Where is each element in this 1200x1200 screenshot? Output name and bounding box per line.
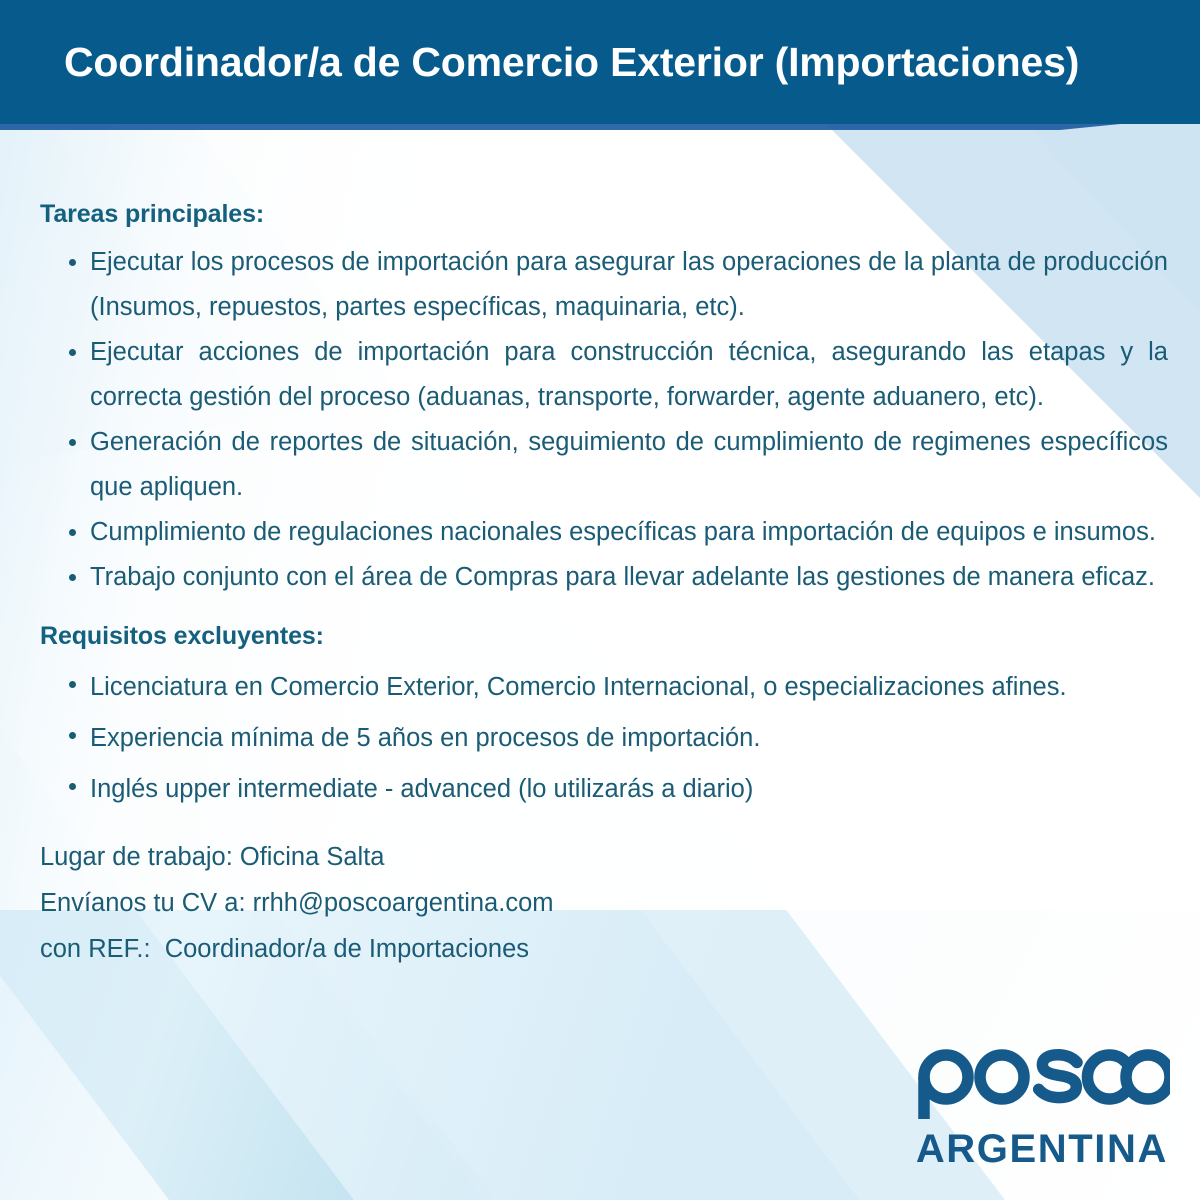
list-item: Trabajo conjunto con el área de Compras … (62, 555, 1168, 600)
section-heading-tareas: Tareas principales: (40, 200, 264, 229)
list-item: Ejecutar los procesos de importación par… (62, 240, 1168, 330)
list-item: Generación de reportes de situación, seg… (62, 420, 1168, 510)
logo-subtitle: ARGENTINA (910, 1127, 1168, 1172)
section-heading-requisitos: Requisitos excluyentes: (40, 622, 324, 651)
list-item: Cumplimiento de regulaciones nacionales … (62, 510, 1168, 555)
list-item: Inglés upper intermediate - advanced (lo… (62, 764, 1168, 815)
list-item: Experiencia mínima de 5 años en procesos… (62, 713, 1168, 764)
content-area: Tareas principales: Ejecutar los proceso… (0, 0, 1200, 1200)
job-posting-flyer: Coordinador/a de Comercio Exterior (Impo… (0, 0, 1200, 1200)
reference-line: con REF.: Coordinador/a de Importaciones (40, 926, 940, 972)
requisitos-list: Licenciatura en Comercio Exterior, Comer… (62, 662, 1168, 815)
list-item: Licenciatura en Comercio Exterior, Comer… (62, 662, 1168, 713)
posco-wordmark-logo (910, 1047, 1170, 1125)
email-line[interactable]: Envíanos tu CV a: rrhh@poscoargentina.co… (40, 880, 940, 926)
tareas-list: Ejecutar los procesos de importación par… (62, 240, 1168, 600)
list-item: Ejecutar acciones de importación para co… (62, 330, 1168, 420)
work-location-line: Lugar de trabajo: Oficina Salta (40, 834, 940, 880)
company-logo: ARGENTINA (910, 1047, 1170, 1172)
contact-block: Lugar de trabajo: Oficina Salta Envíanos… (40, 834, 940, 972)
